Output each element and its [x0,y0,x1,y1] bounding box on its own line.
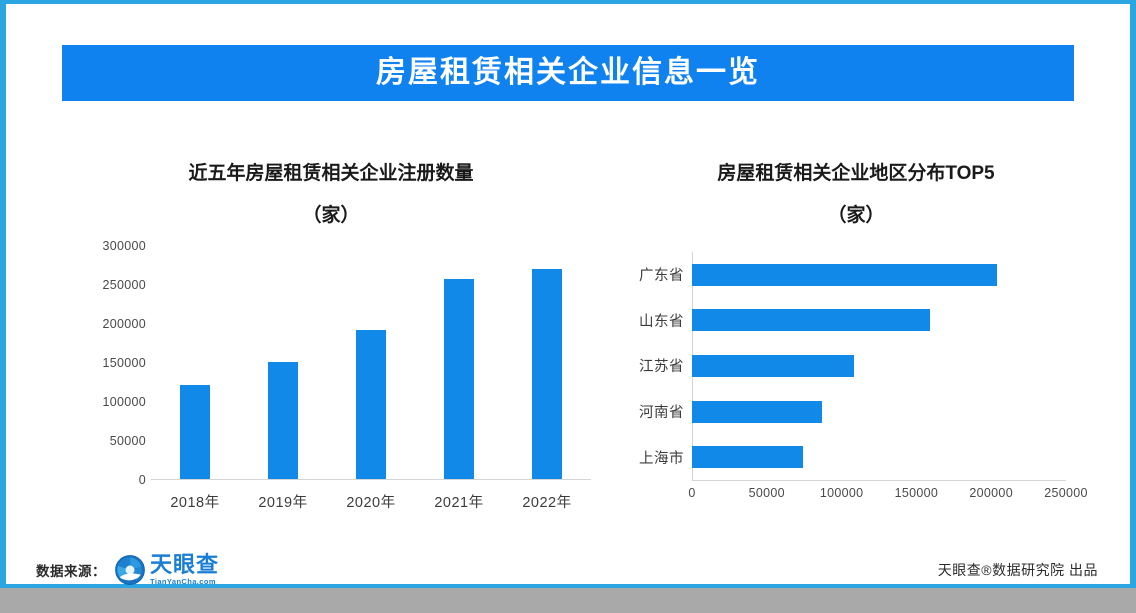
category-label: 上海市 [616,447,692,468]
infographic-card: 房屋租赁相关企业信息一览 近五年房屋租赁相关企业注册数量 （家） 0500001… [0,0,1136,588]
x-axis-labels: 2018年2019年2020年2021年2022年 [151,491,591,512]
bar-track [692,434,1066,480]
right-chart-unit: （家） [646,200,1066,227]
y-axis-tick-label: 250000 [76,278,146,292]
y-axis-tick-label: 50000 [76,434,146,448]
right-chart-panel: 房屋租赁相关企业地区分布TOP5 （家） 广东省山东省江苏省河南省上海市 050… [616,164,1086,564]
bar [444,279,474,479]
y-axis-tick-label: 200000 [76,317,146,331]
region-distribution-bar-chart: 广东省山东省江苏省河南省上海市 050000100000150000200000… [616,246,1086,536]
bar [356,330,386,479]
x-axis-tick-label: 2021年 [415,491,503,512]
x-axis-tick-label: 50000 [749,486,785,500]
bar-track [692,298,1066,344]
x-axis-tick-label: 200000 [969,486,1013,500]
left-chart-title: 近五年房屋租赁相关企业注册数量 [116,164,546,183]
logo-chinese-name: 天眼查 [150,554,219,576]
logo-text: 天眼查 TianYanCha.com [150,554,219,586]
x-axis-tick-label: 2020年 [327,491,415,512]
footer-credit: 天眼查®数据研究院 出品 [938,560,1098,580]
right-chart-title: 房屋租赁相关企业地区分布TOP5 [646,164,1066,183]
bar-row: 江苏省 [616,343,1066,389]
bar [692,401,822,423]
x-axis-tick-label: 100000 [820,486,864,500]
left-chart-panel: 近五年房屋租赁相关企业注册数量 （家） 05000010000015000020… [66,164,606,564]
bar-row: 上海市 [616,434,1066,480]
x-axis-tick-label: 150000 [895,486,939,500]
header-banner: 房屋租赁相关企业信息一览 [62,45,1074,101]
registration-bar-chart: 050000100000150000200000250000300000 201… [66,246,596,536]
bar-track [692,389,1066,435]
bar [692,309,930,331]
x-axis-tick-label: 0 [688,486,695,500]
tianyancha-eye-icon [115,555,145,585]
bar-series: 广东省山东省江苏省河南省上海市 [616,252,1066,480]
bar-row: 山东省 [616,298,1066,344]
category-label: 江苏省 [616,355,692,376]
bar-slot [239,246,327,479]
x-axis-line [151,479,591,480]
source-label: 数据来源： [36,560,106,580]
bar-row: 广东省 [616,252,1066,298]
y-axis-ticks: 050000100000150000200000250000300000 [74,246,146,480]
x-axis-line [692,480,1066,481]
logo-domain: TianYanCha.com [150,578,219,586]
bar [532,269,562,479]
x-axis-ticks: 050000100000150000200000250000 [692,486,1066,506]
category-label: 河南省 [616,401,692,422]
footer-source: 数据来源： 天眼查 TianYanCha.com [36,554,219,586]
x-axis-tick-label: 2018年 [151,491,239,512]
tianyancha-logo: 天眼查 TianYanCha.com [115,554,219,586]
x-axis-tick-label: 250000 [1044,486,1088,500]
y-axis-tick-label: 100000 [76,395,146,409]
bar [692,355,854,377]
bar-slot [415,246,503,479]
bar-slot [151,246,239,479]
bar [692,446,803,468]
category-label: 广东省 [616,264,692,285]
y-axis-tick-label: 300000 [76,239,146,253]
bar-track [692,252,1066,298]
bar-series [151,246,591,479]
bar [180,385,210,479]
y-axis-tick-label: 0 [76,473,146,487]
x-axis-tick-label: 2022年 [503,491,591,512]
x-axis-tick-label: 2019年 [239,491,327,512]
bar-slot [327,246,415,479]
infographic-screen: 房屋租赁相关企业信息一览 近五年房屋租赁相关企业注册数量 （家） 0500001… [0,0,1136,613]
category-label: 山东省 [616,310,692,331]
left-chart-unit: （家） [116,200,546,227]
page-title: 房屋租赁相关企业信息一览 [376,58,760,88]
bottom-band [0,588,1136,613]
bar [268,362,298,479]
y-axis-tick-label: 150000 [76,356,146,370]
bar-row: 河南省 [616,389,1066,435]
bar-slot [503,246,591,479]
bar [692,264,997,286]
plot-area [151,246,591,480]
bar-track [692,343,1066,389]
